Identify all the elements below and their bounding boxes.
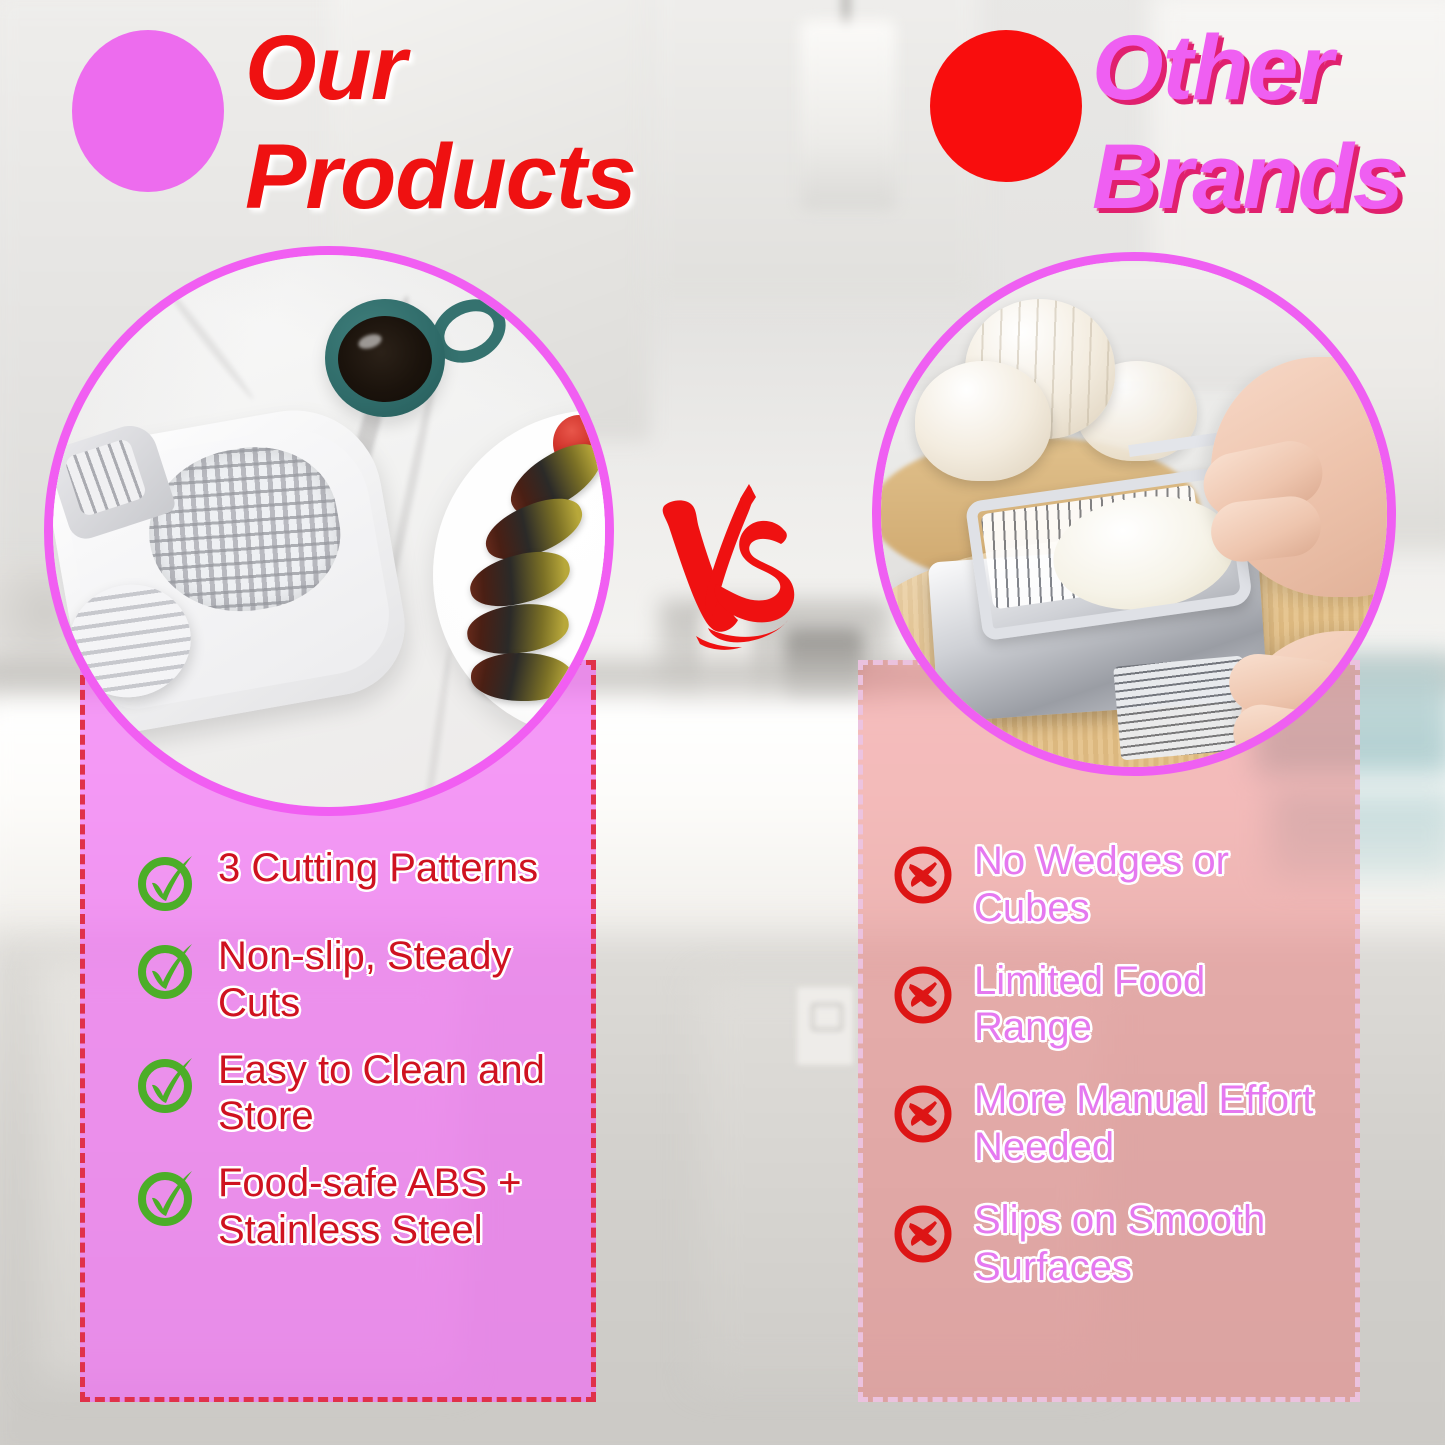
list-item-label: 3 Cutting Patterns <box>218 845 538 892</box>
list-item: Non-slip, Steady Cuts <box>136 933 596 1027</box>
other-brands-feature-list: No Wedges or Cubes Limited Food Range <box>892 838 1352 1316</box>
list-item-label: Non-slip, Steady Cuts <box>218 933 568 1027</box>
list-item: Easy to Clean and Store <box>136 1047 596 1141</box>
teal-sauce-bowl <box>325 299 445 417</box>
list-item: 3 Cutting Patterns <box>136 845 596 913</box>
green-check-circle-icon <box>136 1166 198 1228</box>
red-cross-circle-icon <box>892 964 954 1026</box>
list-item: More Manual Effort Needed <box>892 1077 1352 1171</box>
garlic-bulb <box>915 361 1051 481</box>
list-item-label: Slips on Smooth Surfaces <box>974 1197 1334 1291</box>
background-range-hood <box>800 20 896 210</box>
page-title-other-brands: Other Brands <box>1092 14 1445 231</box>
red-cross-circle-icon <box>892 1083 954 1145</box>
pink-circle-icon <box>72 30 224 192</box>
page-title-our-products: Our Products <box>245 14 685 231</box>
list-item: Limited Food Range <box>892 958 1352 1052</box>
list-item-label: Limited Food Range <box>974 958 1334 1052</box>
list-item: No Wedges or Cubes <box>892 838 1352 932</box>
list-item: Food-safe ABS + Stainless Steel <box>136 1160 596 1254</box>
our-products-feature-list: 3 Cutting Patterns Non-slip, Steady Cuts… <box>136 845 596 1274</box>
green-check-circle-icon <box>136 851 198 913</box>
comparison-infographic: Our Products Other Brands <box>0 0 1445 1445</box>
list-item-label: More Manual Effort Needed <box>974 1077 1334 1171</box>
list-item-label: Easy to Clean and Store <box>218 1047 568 1141</box>
red-cross-circle-icon <box>892 844 954 906</box>
our-product-photo <box>44 246 614 816</box>
vs-icon <box>650 468 820 658</box>
list-item: Slips on Smooth Surfaces <box>892 1197 1352 1291</box>
red-circle-icon <box>930 30 1082 182</box>
other-brand-photo <box>872 252 1396 776</box>
red-cross-circle-icon <box>892 1203 954 1265</box>
green-check-circle-icon <box>136 1053 198 1115</box>
list-item-label: Food-safe ABS + Stainless Steel <box>218 1160 568 1254</box>
list-item-label: No Wedges or Cubes <box>974 838 1334 932</box>
background-wall-socket <box>795 985 855 1067</box>
green-check-circle-icon <box>136 939 198 1001</box>
